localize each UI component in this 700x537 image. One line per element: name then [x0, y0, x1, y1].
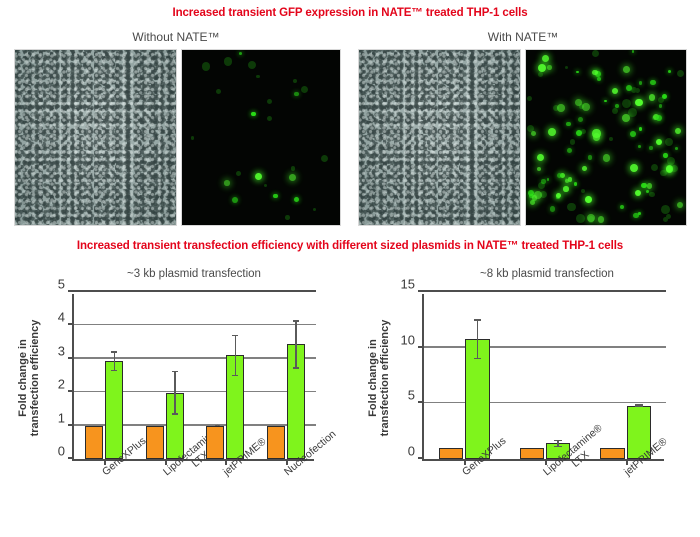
gfp-positive-cell: [575, 99, 582, 106]
gfp-positive-cell: [656, 115, 662, 121]
gfp-cell-dim: [293, 79, 297, 83]
gfp-positive-cell: [646, 190, 649, 193]
gfp-cell-dim: [248, 61, 256, 69]
y-axis-tick: [418, 346, 424, 348]
gfp-positive-cell: [538, 64, 546, 72]
gridline: [424, 290, 666, 292]
gfp-cell-dim: [236, 171, 241, 176]
gfp-positive-cell: [663, 153, 668, 158]
gfp-positive-cell: [542, 55, 549, 62]
gfp-positive-cell: [251, 112, 256, 117]
gfp-positive-cell: [550, 206, 556, 212]
chart-3kb-plasmid: ~3 kb plasmid transfection Fold change i…: [8, 268, 338, 496]
gfp-cell-dim: [609, 137, 613, 141]
panel-group-label-without-nate: Without NATE™: [96, 30, 256, 44]
gfp-cell-dim: [581, 189, 585, 193]
y-axis-tick-label: 15: [401, 277, 415, 292]
gfp-positive-cell: [547, 178, 550, 181]
gfp-positive-cell: [588, 155, 593, 160]
y-axis-tick: [418, 457, 424, 459]
bar-control-jetprime: [206, 426, 224, 459]
panel-group-label-with-nate: With NATE™: [443, 30, 603, 44]
y-axis-tick-label: 0: [58, 444, 65, 459]
gridline: [424, 402, 666, 404]
gfp-positive-cell: [547, 65, 552, 70]
gfp-positive-cell: [534, 191, 542, 199]
gfp-positive-cell: [239, 52, 242, 55]
gfp-cell-dim: [667, 157, 675, 165]
gfp-positive-cell: [623, 66, 630, 73]
gfp-cell-dim: [301, 86, 308, 93]
gfp-positive-cell: [626, 85, 632, 91]
gridline: [74, 290, 316, 292]
gridline: [424, 346, 666, 348]
gfp-positive-cell: [565, 179, 570, 184]
gfp-cell-dim: [570, 139, 576, 145]
gfp-positive-cell: [585, 196, 592, 203]
gfp-positive-cell: [598, 216, 605, 223]
gfp-positive-cell: [255, 173, 262, 180]
micrograph-with-nate-brightfield: [358, 49, 521, 226]
gfp-cell-dim: [264, 184, 267, 187]
gfp-cell-dim: [267, 99, 273, 105]
gfp-positive-cell: [662, 94, 667, 99]
gfp-positive-cell: [649, 94, 655, 100]
gfp-positive-cell: [563, 186, 568, 191]
gfp-positive-cell: [593, 133, 600, 140]
gfp-positive-cell: [574, 182, 578, 186]
y-axis-tick-label: 0: [408, 444, 415, 459]
gfp-positive-cell: [531, 131, 536, 136]
error-bar: [290, 320, 302, 368]
error-bar: [470, 319, 485, 359]
gfp-positive-cell: [566, 122, 570, 126]
gridline: [74, 324, 316, 326]
vignette-overlay: [15, 50, 176, 225]
bar-control-jetprime: [600, 448, 624, 459]
y-axis-tick: [68, 323, 74, 325]
gfp-cell-dim: [622, 99, 631, 108]
gfp-cell-dim: [538, 72, 543, 77]
gfp-cell-dim: [649, 192, 655, 198]
gfp-cell-dim: [663, 217, 668, 222]
y-axis-tick-label: 5: [408, 388, 415, 403]
gfp-positive-cell: [675, 128, 681, 134]
bar-control-genexplus: [85, 426, 103, 459]
transfection-efficiency-title: Increased transient transfection efficie…: [0, 240, 700, 252]
micrograph-without-nate-gfp: [181, 49, 341, 226]
chart-8kb-plot-area: 051015GeneXPlusLipofectamine®LTXjetPRIME…: [422, 294, 664, 461]
gfp-positive-cell: [557, 104, 565, 112]
gfp-positive-cell: [630, 131, 636, 137]
y-axis-tick-label: 1: [58, 410, 65, 425]
y-axis-tick-label: 2: [58, 377, 65, 392]
gfp-cell-dim: [651, 164, 658, 171]
gfp-positive-cell: [537, 167, 542, 172]
gfp-cell-dim: [576, 214, 585, 223]
gfp-positive-cell: [639, 127, 642, 130]
y-axis-tick-label: 10: [401, 332, 415, 347]
gfp-positive-cell: [576, 130, 582, 136]
gfp-cell-dim: [285, 215, 290, 220]
gfp-positive-cell: [289, 174, 296, 181]
bar-control-lipofectamine-ltx: [146, 426, 164, 459]
gfp-positive-cell: [612, 88, 618, 94]
gfp-cell-dim: [612, 108, 618, 114]
y-axis-tick: [68, 290, 74, 292]
y-axis-tick: [68, 457, 74, 459]
gfp-cell-dim: [224, 57, 232, 65]
gfp-cell-dim: [313, 208, 316, 211]
bar-control-nucleofection: [267, 426, 285, 459]
gfp-cell-dim: [202, 62, 211, 71]
gfp-cell-dim: [592, 50, 599, 57]
gfp-positive-cell: [659, 104, 663, 108]
gfp-expression-title: Increased transient GFP expression in NA…: [0, 7, 700, 19]
gfp-positive-cell: [641, 183, 647, 189]
chart-3kb-subtitle: ~3 kb plasmid transfection: [50, 268, 338, 280]
gfp-positive-cell: [638, 212, 641, 215]
y-axis-tick: [68, 424, 74, 426]
y-axis-tick-label: 5: [58, 277, 65, 292]
micrograph-without-nate-brightfield: [14, 49, 177, 226]
error-bar: [550, 440, 565, 448]
chart-8kb-plasmid: ~8 kb plasmid transfection Fold change i…: [360, 268, 692, 496]
gfp-positive-cell: [677, 202, 683, 208]
gfp-positive-cell: [530, 200, 535, 205]
y-axis-tick: [418, 290, 424, 292]
gfp-positive-cell: [587, 214, 595, 222]
chart-3kb-plot-area: 012345GeneXPlusLipofectamine®LTXjetPRIME…: [72, 294, 314, 461]
gfp-positive-cell: [650, 80, 656, 86]
gfp-positive-cell: [638, 145, 641, 148]
y-axis-tick: [68, 390, 74, 392]
y-axis-tick: [418, 401, 424, 403]
gfp-positive-cell: [622, 114, 630, 122]
gfp-cell-dim: [565, 66, 568, 69]
y-axis-tick: [68, 357, 74, 359]
bar-control-lipofectamine-ltx: [520, 448, 544, 459]
gfp-positive-cell: [630, 164, 638, 172]
gfp-positive-cell: [620, 205, 624, 209]
gfp-positive-cell: [675, 147, 678, 150]
gfp-positive-cell: [294, 92, 299, 97]
gfp-cell-dim: [635, 88, 640, 93]
bar-nate-genexplus: [105, 361, 123, 459]
gfp-cell-dim: [677, 70, 684, 77]
error-bar: [109, 351, 121, 371]
gfp-positive-cell: [597, 77, 601, 81]
gfp-positive-cell: [615, 104, 619, 108]
error-bar: [230, 335, 242, 376]
gfp-positive-cell: [537, 154, 544, 161]
gfp-positive-cell: [273, 194, 277, 198]
gfp-cell-dim: [291, 166, 295, 170]
error-bar: [169, 371, 181, 415]
micrograph-with-nate-gfp: [525, 49, 687, 226]
vignette-overlay: [359, 50, 520, 225]
gfp-cell-dim: [267, 116, 272, 121]
gfp-cell-dim: [665, 138, 673, 146]
chart-3kb-y-axis-label: Fold change intransfection efficiency: [18, 292, 40, 464]
gfp-positive-cell: [647, 183, 652, 188]
gfp-positive-cell: [635, 190, 641, 196]
gfp-positive-cell: [639, 81, 642, 84]
gfp-cell-dim: [256, 75, 259, 78]
y-axis-tick-label: 4: [58, 310, 65, 325]
gfp-positive-cell: [604, 100, 607, 103]
gfp-positive-cell: [557, 173, 562, 178]
gfp-positive-cell: [541, 179, 545, 183]
gfp-positive-cell: [632, 50, 635, 53]
gfp-cell-dim: [527, 96, 532, 101]
gfp-positive-cell: [649, 146, 652, 149]
gfp-positive-cell: [582, 166, 587, 171]
gfp-cell-dim: [661, 205, 670, 214]
chart-8kb-y-axis-label: Fold change intransfection efficiency: [368, 292, 390, 464]
gfp-positive-cell: [232, 197, 238, 203]
gfp-positive-cell: [578, 117, 583, 122]
gfp-cell-dim: [321, 155, 328, 162]
gfp-positive-cell: [668, 70, 671, 73]
error-bar: [631, 404, 646, 407]
gfp-positive-cell: [548, 128, 556, 136]
gfp-positive-cell: [556, 193, 561, 198]
gfp-positive-cell: [224, 180, 229, 185]
gfp-positive-cell: [582, 103, 590, 111]
gfp-cell-dim: [216, 89, 221, 94]
gfp-cell-dim: [567, 203, 575, 211]
chart-8kb-subtitle: ~8 kb plasmid transfection: [402, 268, 692, 280]
gfp-positive-cell: [576, 71, 579, 74]
gfp-positive-cell: [635, 99, 642, 106]
gfp-positive-cell: [567, 148, 572, 153]
gfp-positive-cell: [656, 139, 662, 145]
gfp-cell-dim: [191, 136, 195, 140]
y-axis-tick-label: 3: [58, 343, 65, 358]
gfp-positive-cell: [603, 154, 610, 161]
gfp-positive-cell: [666, 166, 672, 172]
bar-control-genexplus: [439, 448, 463, 459]
gfp-positive-cell: [294, 197, 299, 202]
